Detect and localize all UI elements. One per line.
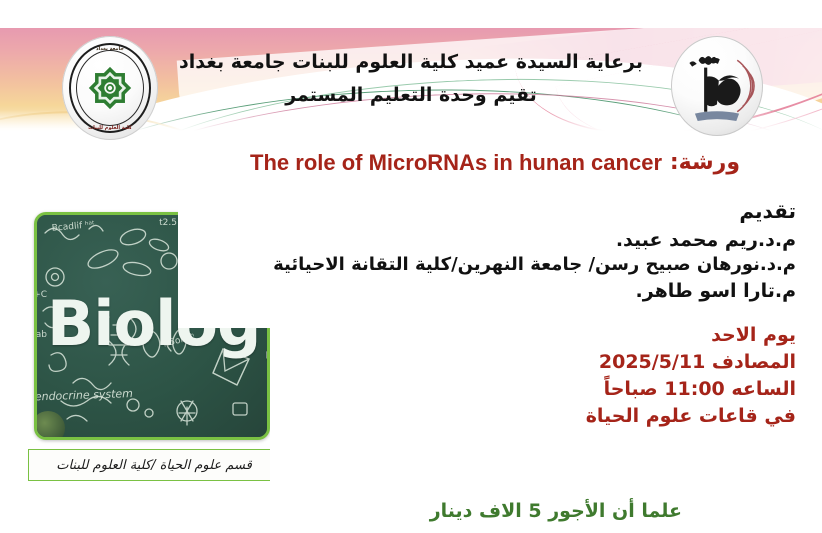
schedule-time: الساعه 11:00 صباحاً: [136, 376, 796, 403]
svg-text:C+: C+: [37, 290, 47, 300]
svg-text:endocrine system: endocrine system: [37, 387, 133, 403]
presenter-name-3: م.تارا اسو طاهر.: [136, 278, 796, 304]
presenter-name-2: م.د.نورهان صبيح رسن/ جامعة النهرين/كلية …: [136, 253, 796, 278]
workshop-poster: برعاية السيدة عميد كلية العلوم للبنات جا…: [0, 0, 822, 533]
image-caption-text: قسم علوم الحياة /كلية العلوم للبنات: [56, 458, 252, 473]
presenters-heading: تقديم: [136, 198, 796, 225]
corner-leaf-decoration: [34, 411, 65, 440]
fee-note-text: علما أن الأجور 5 الاف دينار: [430, 500, 682, 522]
schedule-venue: في قاعات علوم الحياة: [136, 403, 796, 430]
octagram-star-icon: [88, 66, 132, 110]
workshop-label: ورشة:: [670, 150, 740, 175]
logo-left-bottom-text: كلية العلوم للبنات: [62, 125, 158, 131]
workshop-title-row: ورشة: The role of MicroRNAs in hunan can…: [0, 150, 822, 186]
image-caption-box: قسم علوم الحياة /كلية العلوم للبنات: [28, 449, 280, 481]
fee-note-block: علما أن الأجور 5 الاف دينار: [430, 500, 682, 522]
svg-text:Bcadlif ʰᵃᵗ: Bcadlif ʰᵃᵗ: [51, 220, 95, 234]
presenter-name-1: م.د.ريم محمد عبيد.: [136, 227, 796, 253]
workshop-english-title: The role of MicroRNAs in hunan cancer: [250, 150, 662, 176]
logo-left-top-text: جامعة بغداد: [62, 46, 158, 52]
schedule-day: يوم الاحد: [136, 322, 796, 349]
schedule-date: المصادف 2025/5/11: [136, 349, 796, 376]
university-of-baghdad-logo: جامعة بغداد كلية العلوم للبنات: [62, 36, 158, 140]
schedule-block: يوم الاحد المصادف 2025/5/11 الساعه 11:00…: [136, 322, 796, 430]
woman-with-plant-icon: [671, 36, 763, 136]
svg-text:Zn=ab: Zn=ab: [37, 330, 47, 340]
presenters-block: تقديم م.د.ريم محمد عبيد. م.د.نورهان صبيح…: [136, 198, 796, 304]
continuing-education-unit-logo: [671, 36, 763, 136]
